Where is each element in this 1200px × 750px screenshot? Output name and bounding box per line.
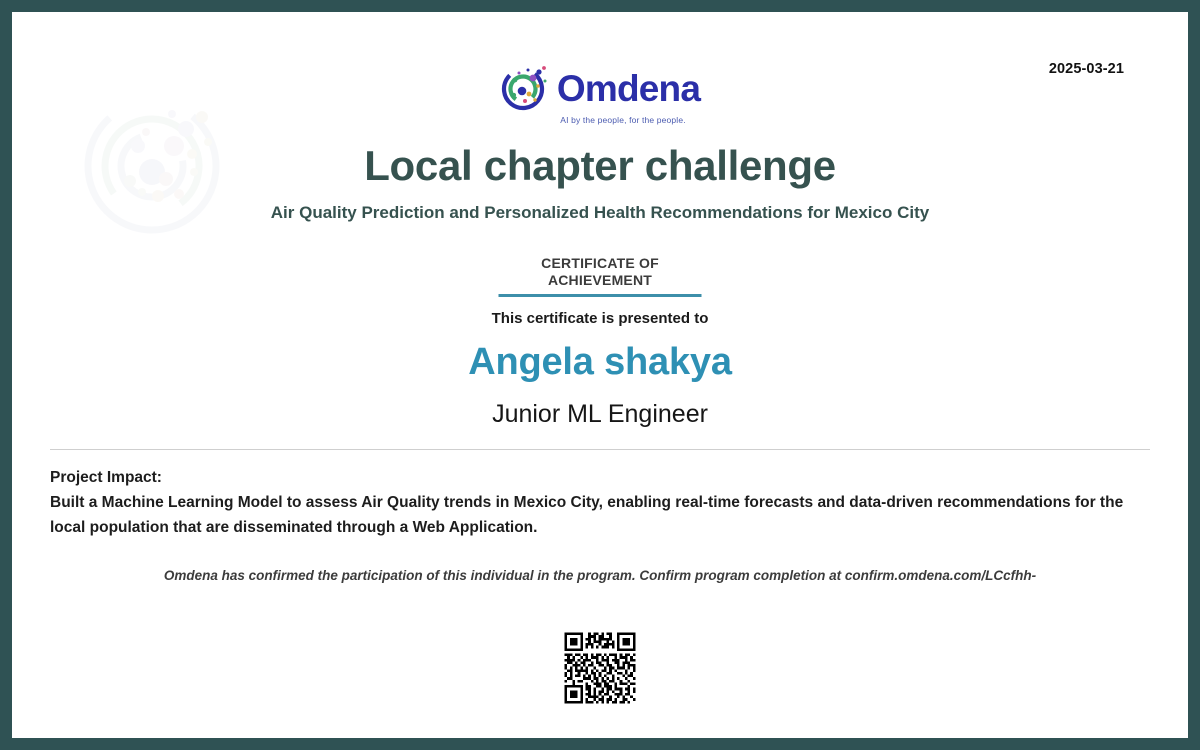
- project-impact: Project Impact: Built a Machine Learning…: [50, 465, 1140, 540]
- project-impact-body: Built a Machine Learning Model to assess…: [50, 490, 1140, 540]
- certificate-kicker: CERTIFICATE OF ACHIEVEMENT: [12, 255, 1188, 289]
- recipient-name: Angela shakya: [12, 341, 1188, 384]
- verification-qr-code[interactable]: [562, 630, 638, 706]
- page-title: Local chapter challenge: [12, 142, 1188, 190]
- page-subtitle: Air Quality Prediction and Personalized …: [12, 203, 1188, 223]
- project-impact-label: Project Impact:: [50, 465, 1140, 490]
- omdena-wordmark: Omdena: [557, 70, 700, 107]
- certificate-page: 2025-03-21: [12, 12, 1188, 738]
- certificate-kicker-line1: CERTIFICATE OF: [541, 255, 659, 271]
- section-divider: [50, 449, 1150, 450]
- omdena-logo-mark-icon: [500, 64, 550, 112]
- omdena-tagline: AI by the people, for the people.: [560, 115, 685, 125]
- verification-text: Omdena has confirmed the participation o…: [12, 568, 1188, 583]
- presented-to-label: This certificate is presented to: [12, 310, 1188, 327]
- recipient-role: Junior ML Engineer: [12, 400, 1188, 429]
- certificate-kicker-line2: ACHIEVEMENT: [548, 272, 652, 288]
- certificate-divider: [499, 294, 702, 297]
- omdena-logo: Omdena AI by the people, for the people.: [12, 64, 1188, 125]
